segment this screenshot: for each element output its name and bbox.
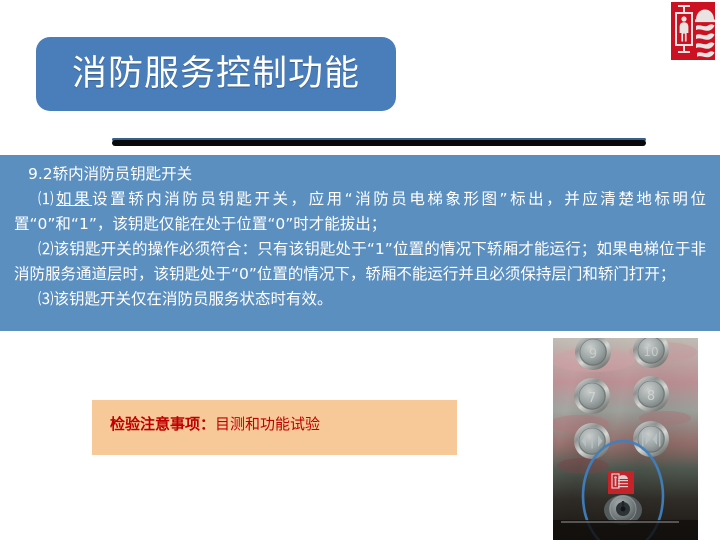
content-item-3-text: 该钥匙开关仅在消防员服务状态时有效。 [54, 290, 333, 308]
page-title: 消防服务控制功能 [72, 57, 360, 92]
content-item-1: ⑴如果设置轿内消防员钥匙开关，应用“消防员电梯象形图”标出，并应清楚地标明位置“… [14, 187, 706, 237]
content-item-2-marker: ⑵ [38, 240, 54, 258]
title-divider-bar [112, 138, 646, 147]
content-item-1-emphasis: 如果 [56, 190, 92, 208]
divider-bar-dark [112, 140, 646, 146]
elevator-button: 8 [633, 376, 669, 412]
content-item-1-marker: ⑴ [38, 190, 56, 208]
door-open-button [574, 423, 610, 459]
content-item-3: ⑶该钥匙开关仅在消防员服务状态时有效。 [14, 287, 706, 312]
content-panel: 9.2轿内消防员钥匙开关 ⑴如果设置轿内消防员钥匙开关，应用“消防员电梯象形图”… [0, 155, 720, 331]
slide-title-box: 消防服务控制功能 [36, 37, 396, 111]
door-close-button [633, 421, 669, 457]
svg-text:10: 10 [643, 345, 658, 359]
inspection-note-value: 目测和功能试验 [215, 415, 320, 433]
elevator-control-panel-photo: 9 10 7 8 [553, 338, 698, 540]
svg-text:8: 8 [647, 389, 655, 404]
content-item-2-text: 该钥匙开关的操作必须符合：只有该钥匙处于“1”位置的情况下轿厢才能运行；如果电梯… [14, 240, 706, 283]
inspection-note-box: 检验注意事项：目测和功能试验 [92, 400, 457, 455]
fireman-elevator-pictogram-icon [671, 2, 715, 60]
svg-text:7: 7 [588, 391, 596, 406]
svg-text:9: 9 [589, 347, 597, 362]
elevator-button: 7 [574, 378, 610, 414]
content-item-3-marker: ⑶ [38, 290, 54, 308]
content-item-1-text: 设置轿内消防员钥匙开关，应用“消防员电梯象形图”标出，并应清楚地标明位置“0”和… [14, 190, 706, 233]
content-heading: 9.2轿内消防员钥匙开关 [14, 162, 706, 187]
inspection-note-label: 检验注意事项： [110, 415, 215, 433]
inspection-note-text: 检验注意事项：目测和功能试验 [110, 414, 320, 434]
content-item-2: ⑵该钥匙开关的操作必须符合：只有该钥匙处于“1”位置的情况下轿厢才能运行；如果电… [14, 237, 706, 287]
